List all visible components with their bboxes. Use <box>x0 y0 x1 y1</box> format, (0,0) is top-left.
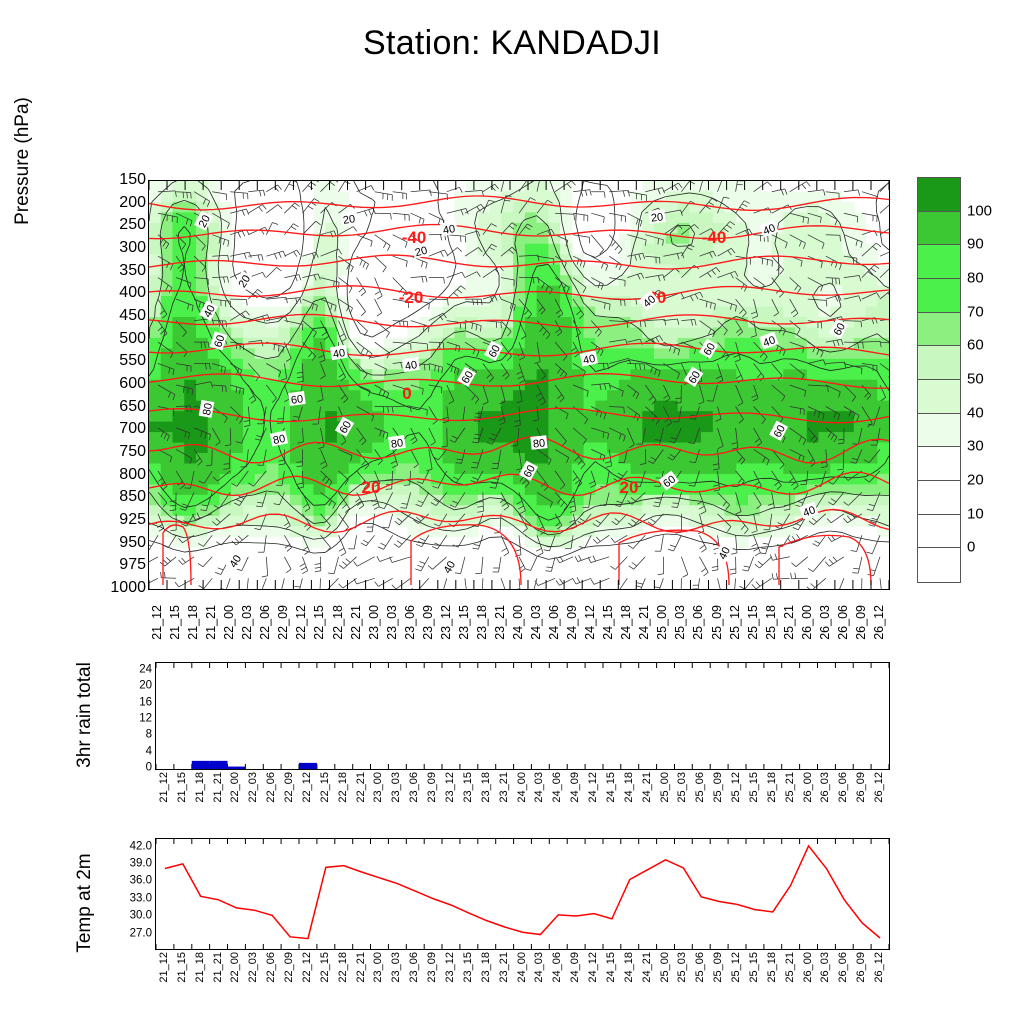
time-tick-label: 26_12 <box>872 605 886 640</box>
main-y-axis-label: Pressure (hPa) <box>12 41 34 281</box>
time-tick-label: 23_06 <box>408 952 420 983</box>
time-tick-label: 22_12 <box>301 952 313 983</box>
colorbar-tick-label: 50 <box>967 372 984 387</box>
pressure-tick-label: 1000 <box>110 580 146 596</box>
time-tick-label: 25_12 <box>730 952 742 983</box>
colorbar-cell <box>918 414 960 448</box>
time-tick-label: 24_06 <box>547 605 561 640</box>
colorbar-tick-label: 60 <box>967 338 984 353</box>
pressure-tick-label: 550 <box>119 353 146 369</box>
time-tick-label: 22_15 <box>319 952 331 983</box>
time-tick-label: 23_18 <box>475 605 489 640</box>
time-tick-label: 24_00 <box>516 952 528 983</box>
time-tick-label: 26_09 <box>855 772 867 803</box>
colorbar-tick-label: 100 <box>967 203 992 218</box>
time-tick-label: 24_18 <box>619 605 633 640</box>
time-tick-label: 25_00 <box>655 605 669 640</box>
time-tick-label: 21_15 <box>176 772 188 803</box>
time-tick-label: 25_09 <box>712 952 724 983</box>
time-tick-label: 24_03 <box>529 605 543 640</box>
time-tick-label: 25_21 <box>782 605 796 640</box>
time-tick-label: 25_21 <box>784 772 796 803</box>
time-tick-label: 24_15 <box>601 605 615 640</box>
time-tick-label: 24_18 <box>623 772 635 803</box>
time-tick-label: 21_12 <box>158 952 170 983</box>
time-tick-label: 25_03 <box>676 772 688 803</box>
temp-tick-label: 39.0 <box>130 858 152 870</box>
colorbar-cell <box>918 212 960 246</box>
time-tick-label: 22_06 <box>265 952 277 983</box>
colorbar-cell <box>918 279 960 313</box>
time-tick-label: 25_00 <box>659 952 671 983</box>
pressure-tick-label: 150 <box>119 172 146 188</box>
time-tick-label: 22_21 <box>355 952 367 983</box>
time-tick-label: 23_09 <box>426 772 438 803</box>
time-tick-label: 25_12 <box>728 605 742 640</box>
colorbar-cell <box>918 245 960 279</box>
time-tick-label: 26_12 <box>873 952 885 983</box>
colorbar-cell <box>918 548 960 582</box>
time-tick-label: 25_18 <box>766 772 778 803</box>
pressure-tick-label: 700 <box>119 421 146 437</box>
time-tick-label: 23_00 <box>367 605 381 640</box>
time-tick-label: 26_03 <box>819 772 831 803</box>
time-tick-label: 25_15 <box>748 772 760 803</box>
rain-tick-label: 20 <box>139 681 152 693</box>
rain-bars-svg <box>156 663 889 769</box>
colorbar-labels: 1009080706050403020100 <box>967 177 1023 581</box>
time-tick-label: 25_06 <box>691 605 705 640</box>
colorbar-cell <box>918 447 960 481</box>
colorbar-tick-label: 0 <box>967 540 975 555</box>
time-tick-label: 25_03 <box>676 952 688 983</box>
time-tick-label: 21_18 <box>194 952 206 983</box>
colorbar-cell <box>918 481 960 515</box>
time-tick-label: 23_15 <box>462 772 474 803</box>
time-tick-label: 25_03 <box>673 605 687 640</box>
time-tick-label: 22_12 <box>294 605 308 640</box>
pressure-tick-label: 975 <box>119 557 146 573</box>
temp-plot-area <box>155 838 890 950</box>
time-tick-label: 26_00 <box>800 605 814 640</box>
cross-section-svg: -40-40-20-200202020202040404020204060406… <box>149 181 889 589</box>
pressure-tick-label: 650 <box>119 399 146 415</box>
colorbar-tick-label: 20 <box>967 473 984 488</box>
time-tick-label: 25_06 <box>694 952 706 983</box>
rain-y-axis-label: 3hr rain total <box>74 640 96 790</box>
time-tick-label: 26_09 <box>855 952 867 983</box>
time-tick-label: 25_09 <box>712 772 724 803</box>
time-tick-label: 21_15 <box>168 605 182 640</box>
time-tick-label: 23_09 <box>421 605 435 640</box>
time-tick-label: 23_06 <box>408 772 420 803</box>
temp-x-axis-ticks: 21_1221_1521_1821_2122_0022_0322_0622_09… <box>155 952 888 1000</box>
rain-x-axis-ticks: 21_1221_1521_1821_2122_0022_0322_0622_09… <box>155 772 888 820</box>
rain-tick-label: 8 <box>146 730 152 742</box>
time-tick-label: 25_00 <box>659 772 671 803</box>
colorbar-cell <box>918 313 960 347</box>
time-tick-label: 22_00 <box>229 952 241 983</box>
colorbar-tick-label: 30 <box>967 439 984 454</box>
time-tick-label: 23_15 <box>457 605 471 640</box>
temp-tick-label: 30.0 <box>130 910 152 922</box>
time-tick-label: 26_06 <box>836 605 850 640</box>
time-tick-label: 24_12 <box>587 952 599 983</box>
rain-tick-label: 24 <box>139 664 152 676</box>
rain-y-axis-ticks: 04812162024 <box>108 662 152 768</box>
time-tick-label: 22_09 <box>276 605 290 640</box>
time-tick-label: 23_12 <box>444 772 456 803</box>
time-tick-label: 26_03 <box>819 952 831 983</box>
pressure-tick-label: 800 <box>119 467 146 483</box>
time-tick-label: 22_18 <box>337 772 349 803</box>
time-tick-label: 24_21 <box>641 772 653 803</box>
time-tick-label: 23_21 <box>493 605 507 640</box>
rain-tick-label: 12 <box>139 713 152 725</box>
time-tick-label: 25_18 <box>766 952 778 983</box>
time-tick-label: 24_12 <box>583 605 597 640</box>
temp-line-svg <box>156 839 889 949</box>
main-y-axis-ticks: 1502002503003504004505005506006507007508… <box>96 175 146 595</box>
time-tick-label: 24_03 <box>533 952 545 983</box>
time-tick-label: 22_06 <box>258 605 272 640</box>
time-tick-label: 21_18 <box>186 605 200 640</box>
temp-tick-label: 42.0 <box>130 841 152 853</box>
rain-panel: 3hr rain total 04812162024 21_1221_1521_… <box>0 650 1024 820</box>
time-tick-label: 21_21 <box>204 605 218 640</box>
colorbar-cell <box>918 380 960 414</box>
time-tick-label: 24_00 <box>511 605 525 640</box>
time-tick-label: 23_18 <box>480 772 492 803</box>
time-tick-label: 21_21 <box>212 772 224 803</box>
pressure-tick-label: 500 <box>119 331 146 347</box>
temp-y-axis-label: Temp at 2m <box>74 818 96 988</box>
time-tick-label: 22_21 <box>355 772 367 803</box>
time-tick-label: 26_00 <box>802 952 814 983</box>
pressure-tick-label: 200 <box>119 195 146 211</box>
time-tick-label: 22_15 <box>312 605 326 640</box>
time-tick-label: 25_12 <box>730 772 742 803</box>
time-tick-label: 23_21 <box>498 952 510 983</box>
colorbar-tick-label: 80 <box>967 271 984 286</box>
time-tick-label: 25_15 <box>746 605 760 640</box>
page-title: Station: KANDADJI <box>0 24 1024 63</box>
pressure-tick-label: 350 <box>119 263 146 279</box>
temp-line <box>165 846 880 939</box>
time-tick-label: 23_21 <box>498 772 510 803</box>
time-tick-label: 22_12 <box>301 772 313 803</box>
pressure-tick-label: 950 <box>119 535 146 551</box>
temp-tick-label: 33.0 <box>130 893 152 905</box>
temperature-panel: Temp at 2m 27.030.033.036.039.042.0 21_1… <box>0 828 1024 1024</box>
rain-tick-label: 16 <box>139 697 152 709</box>
time-tick-label: 25_09 <box>710 605 724 640</box>
time-tick-label: 23_03 <box>390 772 402 803</box>
rain-minor-ticks <box>156 663 889 769</box>
time-tick-label: 21_12 <box>150 605 164 640</box>
time-tick-label: 22_06 <box>265 772 277 803</box>
rain-plot-area <box>155 662 890 770</box>
time-tick-label: 25_21 <box>784 952 796 983</box>
time-tick-label: 24_15 <box>605 772 617 803</box>
time-tick-label: 24_00 <box>516 772 528 803</box>
pressure-tick-label: 450 <box>119 308 146 324</box>
time-tick-label: 24_12 <box>587 772 599 803</box>
temp-tick-label: 27.0 <box>130 928 152 940</box>
time-tick-label: 25_06 <box>694 772 706 803</box>
time-tick-label: 26_06 <box>837 772 849 803</box>
time-tick-label: 26_03 <box>818 605 832 640</box>
time-tick-label: 21_21 <box>212 952 224 983</box>
time-tick-label: 23_00 <box>372 772 384 803</box>
time-tick-label: 22_03 <box>247 772 259 803</box>
colorbar-cell <box>918 178 960 212</box>
colorbar-tick-label: 40 <box>967 405 984 420</box>
time-tick-label: 24_06 <box>551 952 563 983</box>
time-tick-label: 21_12 <box>158 772 170 803</box>
time-tick-label: 25_18 <box>764 605 778 640</box>
time-tick-label: 26_09 <box>854 605 868 640</box>
time-tick-label: 21_18 <box>194 772 206 803</box>
time-tick-label: 24_09 <box>565 605 579 640</box>
time-tick-label: 23_03 <box>390 952 402 983</box>
pressure-tick-label: 925 <box>119 512 146 528</box>
humidity-wind-plot-area: -40-40-20-200202020202040404020204060406… <box>148 180 890 590</box>
time-tick-label: 22_00 <box>222 605 236 640</box>
time-tick-label: 22_00 <box>229 772 241 803</box>
pressure-tick-label: 250 <box>119 217 146 233</box>
time-tick-label: 23_06 <box>403 605 417 640</box>
time-tick-label: 23_03 <box>385 605 399 640</box>
colorbar-tick-label: 90 <box>967 237 984 252</box>
time-tick-label: 24_15 <box>605 952 617 983</box>
colorbar-cell <box>918 346 960 380</box>
time-tick-label: 22_15 <box>319 772 331 803</box>
rain-tick-label: 0 <box>146 762 152 774</box>
pressure-tick-label: 600 <box>119 376 146 392</box>
time-tick-label: 24_21 <box>641 952 653 983</box>
time-tick-label: 22_21 <box>349 605 363 640</box>
time-tick-label: 26_06 <box>837 952 849 983</box>
time-tick-label: 22_09 <box>283 772 295 803</box>
rain-bars <box>192 761 317 769</box>
time-tick-label: 26_00 <box>802 772 814 803</box>
time-tick-label: 24_03 <box>533 772 545 803</box>
time-tick-label: 24_06 <box>551 772 563 803</box>
time-tick-label: 22_03 <box>240 605 254 640</box>
time-tick-label: 24_09 <box>569 772 581 803</box>
cross-section-panel: Pressure (hPa) 1502002503003504004505005… <box>0 85 1024 525</box>
pressure-tick-label: 300 <box>119 240 146 256</box>
time-tick-label: 23_15 <box>462 952 474 983</box>
time-tick-label: 23_09 <box>426 952 438 983</box>
time-tick-label: 23_00 <box>372 952 384 983</box>
time-tick-label: 21_15 <box>176 952 188 983</box>
time-tick-label: 24_21 <box>637 605 651 640</box>
temp-tick-label: 36.0 <box>130 876 152 888</box>
time-tick-label: 23_18 <box>480 952 492 983</box>
time-tick-label: 22_18 <box>337 952 349 983</box>
pressure-tick-label: 850 <box>119 489 146 505</box>
time-tick-label: 22_18 <box>331 605 345 640</box>
pressure-tick-label: 400 <box>119 285 146 301</box>
pressure-tick-label: 750 <box>119 444 146 460</box>
time-tick-label: 22_09 <box>283 952 295 983</box>
rain-tick-label: 4 <box>146 746 152 758</box>
colorbar-tick-label: 10 <box>967 506 984 521</box>
colorbar-tick-label: 70 <box>967 304 984 319</box>
time-tick-label: 26_12 <box>873 772 885 803</box>
time-tick-label: 25_15 <box>748 952 760 983</box>
time-tick-label: 23_12 <box>444 952 456 983</box>
time-tick-label: 24_18 <box>623 952 635 983</box>
time-tick-label: 23_12 <box>439 605 453 640</box>
colorbar-cell <box>918 515 960 549</box>
time-tick-label: 24_09 <box>569 952 581 983</box>
temp-y-axis-ticks: 27.030.033.036.039.042.0 <box>100 838 152 948</box>
colorbar <box>917 177 961 583</box>
time-tick-label: 22_03 <box>247 952 259 983</box>
